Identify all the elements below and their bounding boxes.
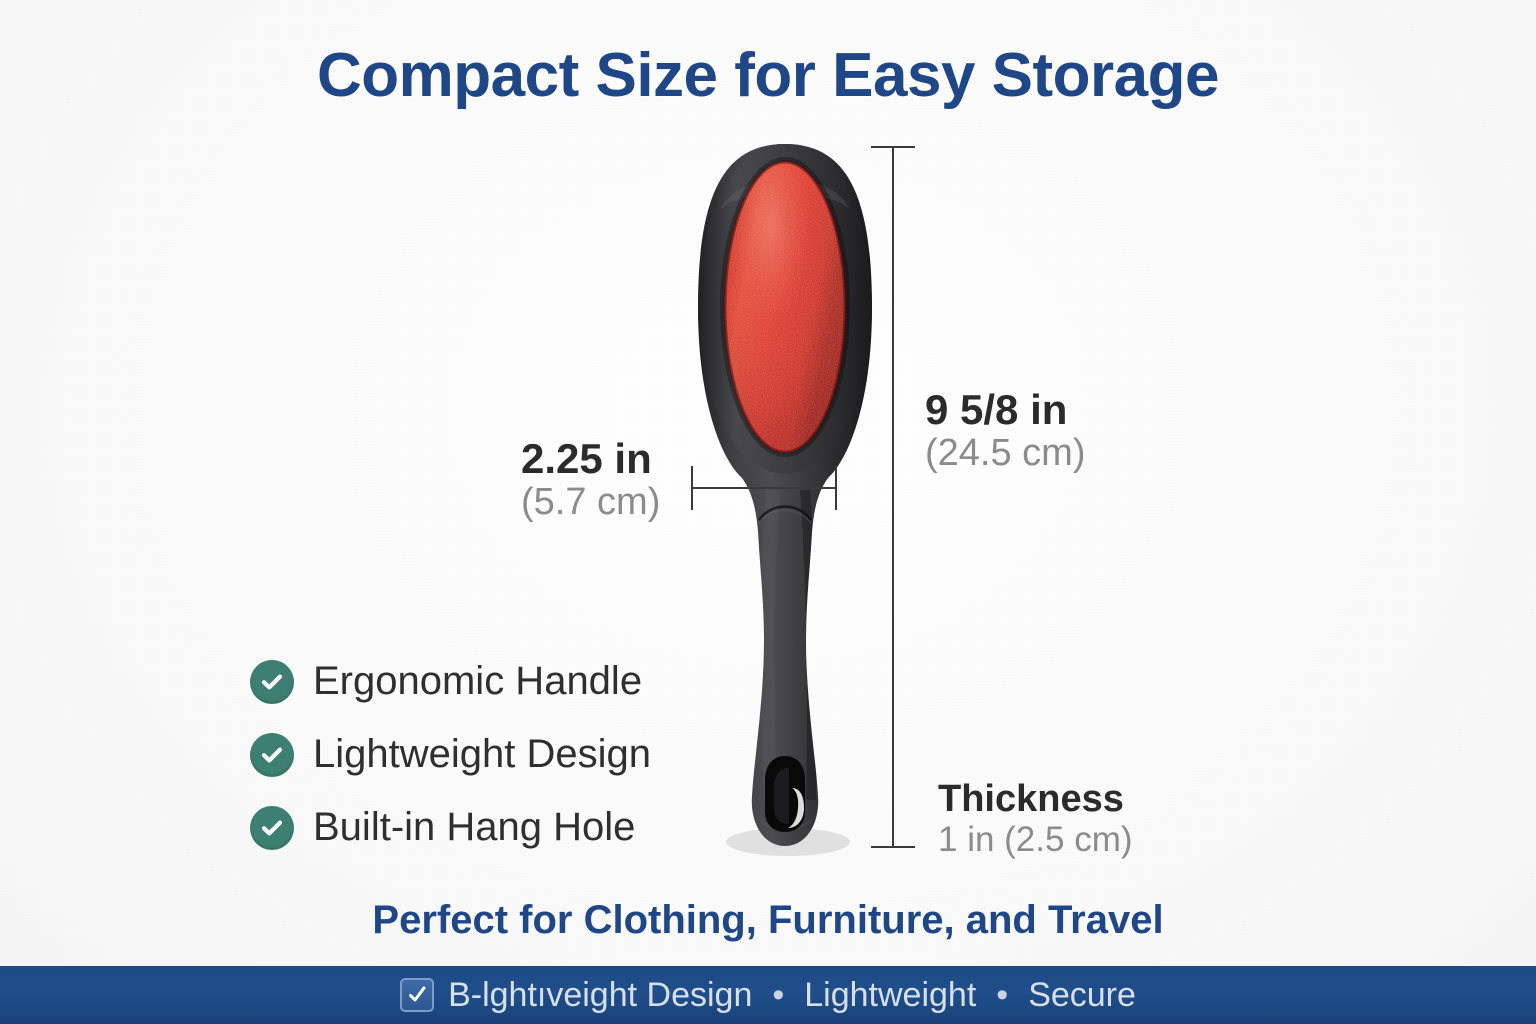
width-dimension-cap-right — [835, 466, 837, 510]
infographic-canvas: Compact Size for Easy Storage — [0, 0, 1536, 1024]
footer-separator: • — [766, 976, 790, 1015]
feature-label: Ergonomic Handle — [313, 659, 642, 704]
feature-item-lightweight-design: Lightweight Design — [250, 718, 651, 791]
footer-item-2: Secure — [1028, 976, 1136, 1015]
feature-label: Built-in Hang Hole — [313, 805, 635, 850]
height-dimension-cap-bottom — [871, 846, 915, 848]
height-value-inches: 9 5/8 in — [925, 388, 1085, 432]
footer-bar: B-lghtıveight Design • Lightweight • Sec… — [0, 966, 1536, 1024]
height-dimension-cap-top — [871, 146, 915, 148]
thickness-value: 1 in (2.5 cm) — [938, 820, 1133, 860]
tagline: Perfect for Clothing, Furniture, and Tra… — [0, 898, 1536, 943]
width-dimension-line — [691, 487, 837, 489]
feature-item-ergonomic-handle: Ergonomic Handle — [250, 645, 651, 718]
footer-separator: • — [990, 976, 1014, 1015]
footer-item-0: B-lghtıveight Design — [448, 976, 752, 1015]
check-circle-icon — [250, 660, 294, 704]
check-circle-icon — [250, 733, 294, 777]
feature-list: Ergonomic Handle Lightweight Design Buil… — [250, 645, 651, 864]
width-dimension-label: 2.25 in (5.7 cm) — [521, 437, 660, 525]
height-dimension-label: 9 5/8 in (24.5 cm) — [925, 388, 1085, 476]
checkbox-checked-icon — [400, 978, 434, 1012]
feature-label: Lightweight Design — [313, 732, 651, 777]
width-value-inches: 2.25 in — [521, 437, 660, 481]
width-dimension-cap-left — [691, 466, 693, 510]
feature-item-built-in-hang-hole: Built-in Hang Hole — [250, 791, 651, 864]
footer-item-1: Lightweight — [804, 976, 976, 1015]
check-circle-icon — [250, 806, 294, 850]
height-dimension-line — [892, 147, 894, 847]
thickness-title: Thickness — [938, 780, 1133, 820]
height-value-cm: (24.5 cm) — [925, 432, 1085, 476]
page-title: Compact Size for Easy Storage — [0, 40, 1536, 111]
thickness-dimension-label: Thickness 1 in (2.5 cm) — [938, 780, 1133, 860]
width-value-cm: (5.7 cm) — [521, 481, 660, 525]
footer-content: B-lghtıveight Design • Lightweight • Sec… — [400, 976, 1136, 1015]
product-image — [660, 140, 910, 860]
